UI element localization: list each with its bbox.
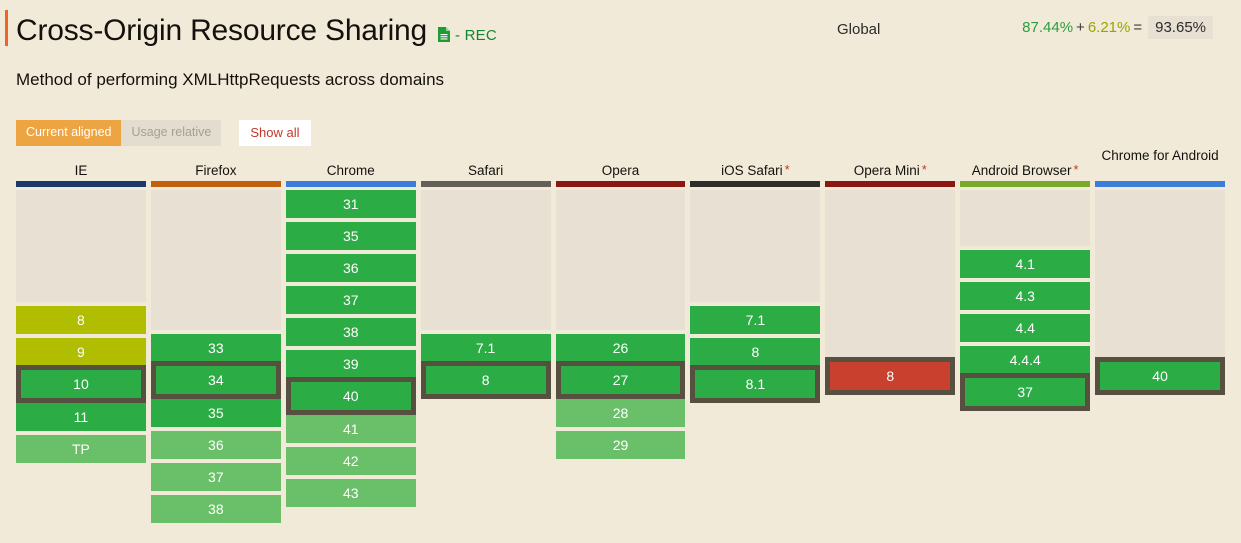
version-cell[interactable]: 26 bbox=[556, 334, 686, 362]
version-cell[interactable]: 8 bbox=[690, 338, 820, 366]
version-cell[interactable] bbox=[1095, 274, 1225, 302]
usage-partial-support: 6.21% bbox=[1088, 19, 1131, 36]
region-label[interactable]: Global bbox=[837, 21, 880, 38]
version-cell[interactable]: 35 bbox=[151, 399, 281, 427]
version-cell bbox=[960, 443, 1090, 471]
footnote-asterisk-icon: * bbox=[922, 163, 927, 178]
browser-name: Firefox bbox=[195, 163, 236, 178]
version-cell[interactable]: TP bbox=[16, 435, 146, 463]
version-cell bbox=[690, 467, 820, 495]
version-cell bbox=[1095, 427, 1225, 455]
browser-header-opera-mini[interactable]: Opera Mini* bbox=[825, 148, 955, 179]
version-cell-list: 8 bbox=[825, 190, 955, 519]
browser-name: Android Browser bbox=[972, 163, 1072, 178]
version-cell bbox=[825, 427, 955, 455]
version-cell[interactable]: 37 bbox=[960, 373, 1090, 411]
version-cell bbox=[960, 411, 1090, 439]
version-cell-list: 7.18 bbox=[421, 190, 551, 523]
version-cell[interactable]: 4.4 bbox=[960, 314, 1090, 342]
version-cell[interactable]: 37 bbox=[151, 463, 281, 491]
version-cell[interactable] bbox=[16, 190, 146, 218]
browser-column: IE891011TP bbox=[16, 148, 146, 543]
version-cell-list: 333435363738 bbox=[151, 190, 281, 523]
version-cell[interactable] bbox=[151, 302, 281, 330]
browser-column: Android Browser*4.14.34.44.4.437 bbox=[960, 148, 1090, 543]
version-cell[interactable] bbox=[690, 190, 820, 218]
version-cell bbox=[960, 475, 1090, 503]
version-cell[interactable]: 29 bbox=[556, 431, 686, 459]
version-cell[interactable] bbox=[151, 218, 281, 246]
version-cell[interactable]: 41 bbox=[286, 415, 416, 443]
version-cell bbox=[825, 491, 955, 519]
version-cell[interactable]: 4.4.4 bbox=[960, 346, 1090, 374]
version-cell[interactable] bbox=[1095, 246, 1225, 274]
usage-relative-button[interactable]: Usage relative bbox=[121, 120, 221, 146]
version-cell[interactable]: 8 bbox=[421, 361, 551, 399]
version-cell[interactable] bbox=[421, 246, 551, 274]
version-cell bbox=[421, 463, 551, 491]
version-cell bbox=[1095, 491, 1225, 519]
version-cell[interactable]: 34 bbox=[151, 361, 281, 399]
browser-color-rule bbox=[825, 181, 955, 187]
version-cell-list: 26272829 bbox=[556, 190, 686, 523]
version-cell[interactable] bbox=[16, 218, 146, 246]
browser-column: iOS Safari*7.188.1 bbox=[690, 148, 820, 543]
version-cell[interactable] bbox=[825, 330, 955, 358]
usage-stats: 87.44%+6.21%=93.65% bbox=[1022, 19, 1213, 36]
browser-header-ie[interactable]: IE bbox=[16, 148, 146, 179]
version-cell[interactable] bbox=[421, 274, 551, 302]
view-toggle-group: Current aligned Usage relative bbox=[16, 120, 221, 146]
spec-status-badge[interactable]: - REC bbox=[438, 25, 497, 44]
version-cell[interactable] bbox=[960, 218, 1090, 246]
version-cell[interactable] bbox=[556, 190, 686, 218]
browser-name: Chrome for Android bbox=[1102, 148, 1219, 163]
version-cell-list: 40 bbox=[1095, 190, 1225, 519]
version-cell[interactable]: 9 bbox=[16, 338, 146, 366]
version-cell[interactable]: 7.1 bbox=[690, 306, 820, 334]
usage-plus-sign: + bbox=[1076, 19, 1085, 36]
version-cell[interactable]: 38 bbox=[286, 318, 416, 346]
browser-color-rule bbox=[960, 181, 1090, 187]
version-cell[interactable]: 7.1 bbox=[421, 334, 551, 362]
version-cell[interactable] bbox=[825, 246, 955, 274]
version-cell[interactable]: 8 bbox=[16, 306, 146, 334]
version-cell[interactable] bbox=[960, 190, 1090, 218]
browser-color-rule bbox=[16, 181, 146, 187]
version-cell[interactable] bbox=[690, 246, 820, 274]
browser-column: Safari7.18 bbox=[421, 148, 551, 543]
title-line: Cross-Origin Resource Sharing - REC bbox=[16, 14, 497, 48]
version-cell bbox=[960, 507, 1090, 535]
version-cell bbox=[421, 495, 551, 523]
version-cell[interactable] bbox=[556, 274, 686, 302]
version-cell[interactable] bbox=[825, 218, 955, 246]
version-cell[interactable]: 11 bbox=[16, 403, 146, 431]
version-cell[interactable] bbox=[151, 190, 281, 218]
version-cell[interactable]: 35 bbox=[286, 222, 416, 250]
version-cell[interactable] bbox=[1095, 218, 1225, 246]
spec-status-label: - REC bbox=[455, 27, 497, 44]
version-cell bbox=[1095, 395, 1225, 423]
browser-name: Safari bbox=[468, 163, 503, 178]
browser-header-firefox[interactable]: Firefox bbox=[151, 148, 281, 179]
browser-header-chrome-for-android[interactable]: Chrome for Android bbox=[1095, 148, 1225, 179]
version-cell bbox=[556, 463, 686, 491]
browser-column: Opera26272829 bbox=[556, 148, 686, 543]
version-cell bbox=[825, 459, 955, 487]
current-aligned-button[interactable]: Current aligned bbox=[16, 120, 121, 146]
version-cell[interactable]: 8.1 bbox=[690, 365, 820, 403]
version-cell[interactable] bbox=[1095, 190, 1225, 218]
version-cell bbox=[421, 399, 551, 427]
version-cell[interactable]: 8 bbox=[825, 357, 955, 395]
usage-equals-sign: = bbox=[1133, 19, 1142, 36]
version-cell[interactable]: 36 bbox=[286, 254, 416, 282]
version-cell[interactable]: 38 bbox=[151, 495, 281, 523]
version-cell[interactable]: 10 bbox=[16, 365, 146, 403]
footnote-asterisk-icon: * bbox=[785, 163, 790, 178]
version-cell bbox=[16, 499, 146, 527]
browser-color-rule bbox=[1095, 181, 1225, 187]
version-cell[interactable]: 31 bbox=[286, 190, 416, 218]
version-cell[interactable] bbox=[151, 246, 281, 274]
version-cell[interactable]: 42 bbox=[286, 447, 416, 475]
page-title: Cross-Origin Resource Sharing bbox=[16, 14, 427, 48]
version-cell-list: 891011TP bbox=[16, 190, 146, 527]
version-cell[interactable] bbox=[556, 218, 686, 246]
version-cell[interactable]: 28 bbox=[556, 399, 686, 427]
browser-color-rule bbox=[421, 181, 551, 187]
browser-color-rule bbox=[151, 181, 281, 187]
version-cell bbox=[16, 467, 146, 495]
version-cell bbox=[690, 435, 820, 463]
version-cell bbox=[286, 511, 416, 539]
version-cell[interactable] bbox=[556, 246, 686, 274]
version-cell[interactable] bbox=[16, 274, 146, 302]
version-cell[interactable] bbox=[421, 190, 551, 218]
version-cell-list: 4.14.34.44.4.437 bbox=[960, 190, 1090, 535]
version-cell bbox=[825, 395, 955, 423]
browser-color-rule bbox=[286, 181, 416, 187]
browser-column: Opera Mini*8 bbox=[825, 148, 955, 543]
version-cell[interactable] bbox=[421, 218, 551, 246]
browser-column: Chrome31353637383940414243 bbox=[286, 148, 416, 543]
view-controls: Current aligned Usage relative Show all bbox=[16, 120, 311, 146]
browser-name: Opera Mini bbox=[854, 163, 920, 178]
browser-column: Chrome for Android40 bbox=[1095, 148, 1225, 543]
feature-page: Cross-Origin Resource Sharing - REC Glob… bbox=[0, 0, 1241, 56]
browser-support-grid: IE891011TPFirefox333435363738Chrome31353… bbox=[16, 148, 1225, 543]
browser-color-rule bbox=[690, 181, 820, 187]
version-cell bbox=[556, 495, 686, 523]
version-cell[interactable]: 37 bbox=[286, 286, 416, 314]
version-cell[interactable] bbox=[690, 274, 820, 302]
version-cell-list: 7.188.1 bbox=[690, 190, 820, 527]
version-cell[interactable]: 40 bbox=[1095, 357, 1225, 395]
version-cell[interactable] bbox=[1095, 302, 1225, 330]
document-icon bbox=[438, 27, 450, 42]
version-cell[interactable] bbox=[16, 246, 146, 274]
browser-name: Opera bbox=[602, 163, 640, 178]
browser-color-rule bbox=[556, 181, 686, 187]
version-cell[interactable] bbox=[421, 302, 551, 330]
version-cell[interactable]: 4.3 bbox=[960, 282, 1090, 310]
version-cell[interactable] bbox=[556, 302, 686, 330]
version-cell[interactable] bbox=[825, 274, 955, 302]
browser-name: Chrome bbox=[327, 163, 375, 178]
version-cell[interactable] bbox=[825, 190, 955, 218]
version-cell[interactable] bbox=[1095, 330, 1225, 358]
version-cell-list: 31353637383940414243 bbox=[286, 190, 416, 539]
version-cell bbox=[1095, 459, 1225, 487]
version-cell bbox=[690, 499, 820, 527]
browser-header-safari[interactable]: Safari bbox=[421, 148, 551, 179]
version-cell[interactable]: 39 bbox=[286, 350, 416, 378]
version-cell[interactable]: 43 bbox=[286, 479, 416, 507]
version-cell bbox=[690, 403, 820, 431]
browser-name: IE bbox=[75, 163, 88, 178]
feature-description: Method of performing XMLHttpRequests acr… bbox=[16, 70, 444, 90]
browser-header-android-browser[interactable]: Android Browser* bbox=[960, 148, 1090, 179]
version-cell[interactable] bbox=[151, 274, 281, 302]
show-all-button[interactable]: Show all bbox=[239, 120, 310, 146]
usage-full-support: 87.44% bbox=[1022, 19, 1073, 36]
usage-total: 93.65% bbox=[1148, 16, 1213, 39]
version-cell[interactable] bbox=[825, 302, 955, 330]
feature-header: Cross-Origin Resource Sharing - REC Glob… bbox=[16, 0, 1225, 56]
browser-header-ios-safari[interactable]: iOS Safari* bbox=[690, 148, 820, 179]
version-cell[interactable]: 27 bbox=[556, 361, 686, 399]
version-cell[interactable]: 40 bbox=[286, 377, 416, 415]
browser-column: Firefox333435363738 bbox=[151, 148, 281, 543]
version-cell[interactable]: 36 bbox=[151, 431, 281, 459]
version-cell[interactable] bbox=[690, 218, 820, 246]
version-cell bbox=[421, 431, 551, 459]
version-cell[interactable]: 33 bbox=[151, 334, 281, 362]
browser-header-chrome[interactable]: Chrome bbox=[286, 148, 416, 179]
browser-name: iOS Safari bbox=[721, 163, 783, 178]
footnote-asterisk-icon: * bbox=[1074, 163, 1079, 178]
version-cell[interactable]: 4.1 bbox=[960, 250, 1090, 278]
browser-header-opera[interactable]: Opera bbox=[556, 148, 686, 179]
